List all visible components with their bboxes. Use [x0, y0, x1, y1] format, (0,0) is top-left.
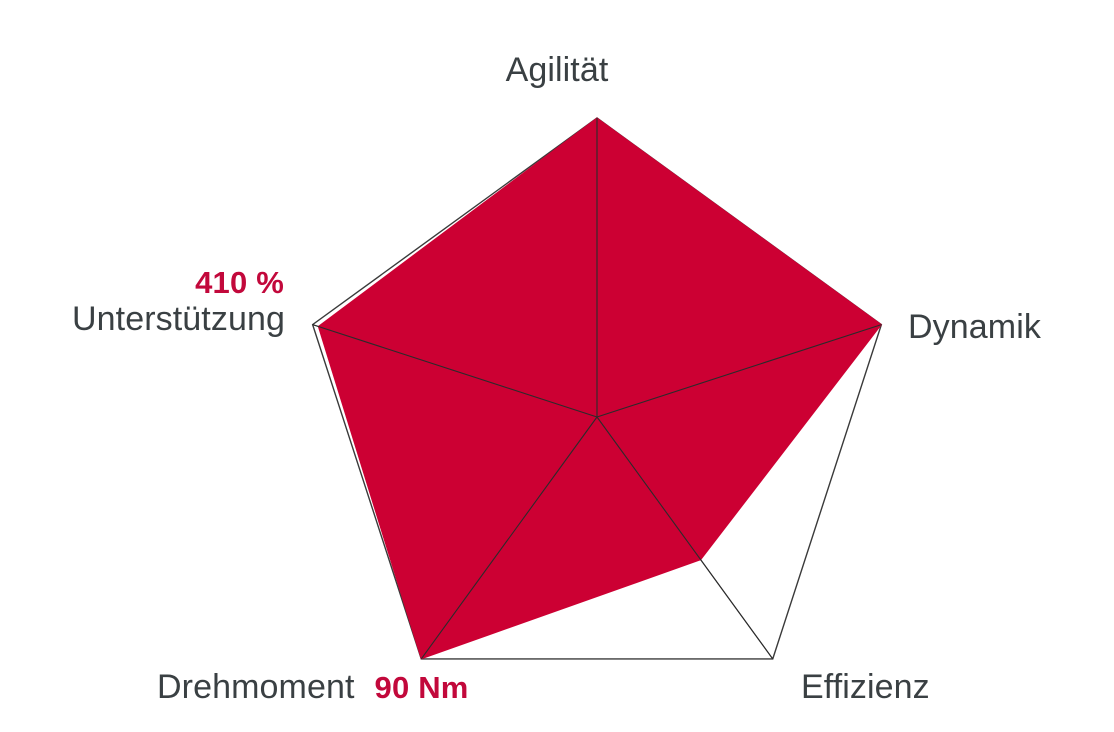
- axis-label-drehmoment-text: Drehmoment: [157, 668, 355, 706]
- axis-label-effizienz: Effizienz: [801, 668, 930, 706]
- axis-label-dynamik: Dynamik: [908, 308, 1041, 346]
- axis-value-drehmoment: 90 Nm: [375, 671, 469, 706]
- axis-label-unterstutzung-text: Unterstützung: [72, 302, 285, 338]
- radar-series-group: [318, 118, 881, 659]
- radar-chart: Agilität Dynamik Effizienz 410 % Unterst…: [0, 0, 1114, 732]
- radar-chart-svg: [0, 0, 1114, 732]
- axis-value-unterstutzung: 410 %: [72, 267, 285, 300]
- axis-label-drehmoment: Drehmoment 90 Nm: [157, 668, 469, 706]
- axis-label-effizienz-text: Effizienz: [801, 668, 930, 706]
- axis-label-unterstutzung: 410 % Unterstützung: [72, 267, 285, 337]
- radar-series-polygon: [318, 118, 881, 659]
- axis-label-agilitat: Agilität: [0, 51, 1114, 89]
- axis-label-agilitat-text: Agilität: [506, 51, 609, 89]
- axis-label-dynamik-text: Dynamik: [908, 308, 1041, 346]
